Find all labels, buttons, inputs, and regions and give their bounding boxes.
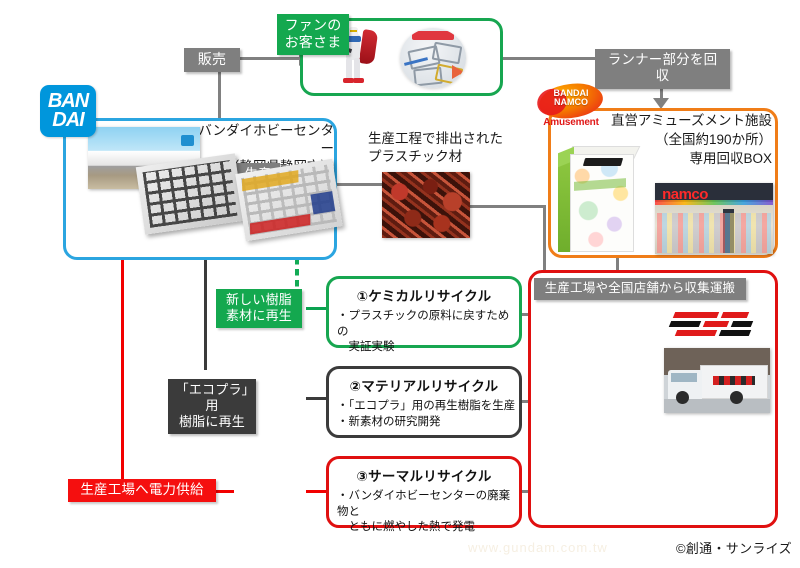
- bandai-logo: BAN DAI: [40, 85, 96, 137]
- bn-logo-line2: NAMCO: [537, 98, 605, 107]
- line-scrap-right: [470, 205, 545, 208]
- label-plastic-material: 生産工程で排出された プラスチック材: [368, 130, 528, 166]
- tag-ecopla-resin: 「エコプラ」用 樹脂に再生: [168, 379, 256, 434]
- photo-collection-box: [556, 142, 648, 254]
- line-ecopla-vertical: [204, 258, 207, 370]
- line-thermal-to-chip: [306, 490, 328, 493]
- card-chemical-recycle: ①ケミカルリサイクル ・プラスチックの原料に戻すための 実証実験: [326, 276, 522, 348]
- namco-store-sign: namco: [662, 187, 745, 199]
- card-chemical-body: ・プラスチックの原料に戻すための 実証実験: [337, 309, 519, 356]
- photo-plastic-scrap: [382, 172, 470, 238]
- card-thermal-recycle: ③サーマルリサイクル ・バンダイホビーセンターの廃棄物と ともに燃やした熱で発電: [326, 456, 522, 528]
- line-sales-horizontal: [240, 57, 300, 60]
- tag-power-supply: 生産工場へ電力供給: [68, 479, 216, 502]
- card-material-recycle: ②マテリアルリサイクル ・「エコプラ」用の再生樹脂を生産 ・新素材の研究開発: [326, 366, 522, 438]
- card-material-body: ・「エコプラ」用の再生樹脂を生産 ・新素材の研究開発: [337, 399, 519, 430]
- photo-runner-frame: [400, 28, 466, 88]
- recycling-flow-diagram: ファンの お客さま 販売 ランナー部分を回収 バンダイホビーセンター （静岡県静…: [0, 0, 800, 568]
- card-thermal-body: ・バンダイホビーセンターの廃棄物と ともに燃やした熱で発電: [337, 489, 519, 536]
- bn-logo-amusement: Amusement: [537, 117, 605, 128]
- tag-sales: 販売: [184, 48, 240, 72]
- line-material-to-chip: [306, 397, 328, 400]
- card-thermal-title: ③サーマルリサイクル: [329, 465, 519, 485]
- tag-collection-transport: 生産工場や全国店舗から収集運搬: [534, 278, 746, 300]
- photo-namco-store: namco: [655, 183, 773, 254]
- tag-runner-collect: ランナー部分を回収: [595, 49, 730, 89]
- line-power-chip-right: [216, 490, 234, 493]
- tag-new-resin: 新しい樹脂 素材に再生: [216, 289, 302, 328]
- copyright-notice: ©創通・サンライズ: [676, 538, 792, 557]
- card-chemical-title: ①ケミカルリサイクル: [329, 285, 519, 305]
- photo-delivery-truck: [664, 348, 770, 413]
- photo-sprue-black: [136, 153, 244, 234]
- tag-fan-customer: ファンの お客さま: [277, 14, 349, 55]
- bandai-namco-amusement-logo: BANDAI NAMCO Amusement: [537, 84, 605, 132]
- bandai-logo-line2: DAI: [52, 111, 83, 130]
- watermark: www.gundam.com.tw: [468, 540, 608, 555]
- line-chemical-to-chip: [306, 307, 328, 310]
- line-hobby-to-scrap: [336, 183, 384, 186]
- line-fan-to-runner: [500, 57, 596, 60]
- card-material-title: ②マテリアルリサイクル: [329, 375, 519, 395]
- blp-logo: [670, 310, 756, 340]
